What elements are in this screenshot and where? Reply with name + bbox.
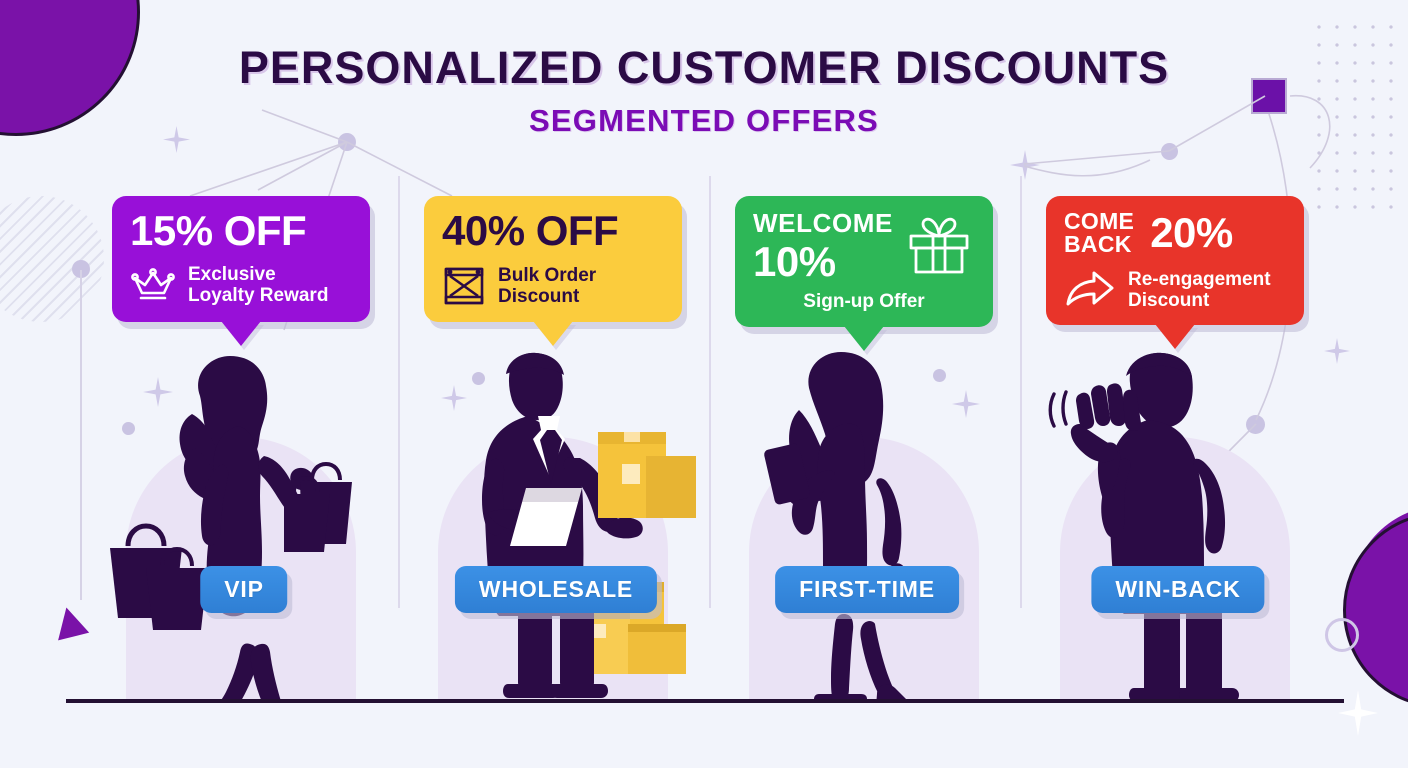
comeback-line1: COME xyxy=(1064,210,1134,233)
discount-value: 15% OFF xyxy=(130,210,306,252)
gift-icon xyxy=(903,214,975,276)
offer-card-vip[interactable]: 15% OFF Exclusive Loyalt xyxy=(112,196,370,322)
card-tail xyxy=(844,326,884,351)
segment-label-wholesale[interactable]: WHOLESALE xyxy=(455,566,657,613)
offer-card-wholesale[interactable]: 40% OFF xyxy=(424,196,682,322)
offer-description-line1: Bulk Order xyxy=(498,265,596,286)
discount-headline: 40% OFF xyxy=(442,210,664,252)
offer-description: Exclusive Loyalty Reward xyxy=(188,264,328,307)
offer-description-line2: Discount xyxy=(1128,290,1271,311)
offer-description-line1: Exclusive xyxy=(188,264,328,285)
offer-card-first-time[interactable]: WELCOME 10% xyxy=(735,196,993,327)
card-tail xyxy=(221,321,261,346)
offer-description: Re-engagement Discount xyxy=(1128,269,1271,312)
discount-value: 20% xyxy=(1150,212,1233,254)
segment-label-vip[interactable]: VIP xyxy=(200,566,287,613)
offer-description-line2: Discount xyxy=(498,286,596,307)
discount-headline: 15% OFF xyxy=(130,210,352,252)
discount-comeback-label: COME BACK xyxy=(1064,210,1134,257)
figure-wholesale xyxy=(400,352,712,702)
held-box xyxy=(598,432,696,518)
segment-column-win-back[interactable]: COME BACK 20% Re-engagement Discount xyxy=(1022,0,1334,768)
motion-lines xyxy=(1050,392,1066,426)
offer-description-line1: Re-engagement xyxy=(1128,269,1271,290)
curved-arrow-icon xyxy=(1064,270,1116,310)
card-tail xyxy=(533,321,573,346)
segment-column-wholesale[interactable]: 40% OFF xyxy=(400,0,712,768)
crown-icon xyxy=(130,266,176,304)
segment-column-first-time[interactable]: WELCOME 10% xyxy=(711,0,1023,768)
figure-vip xyxy=(88,352,400,702)
discount-welcome-label: WELCOME xyxy=(753,210,893,237)
offer-description: Bulk Order Discount xyxy=(498,265,596,308)
offer-description-line2: Loyalty Reward xyxy=(188,285,328,306)
offer-card-win-back[interactable]: COME BACK 20% Re-engagement Discount xyxy=(1046,196,1304,325)
offer-description-line1: Sign-up Offer xyxy=(803,291,924,312)
segment-label-win-back[interactable]: WIN-BACK xyxy=(1091,566,1264,613)
figure-first-time xyxy=(711,352,1023,702)
comeback-line2: BACK xyxy=(1064,233,1134,256)
discount-value: 10% xyxy=(753,241,893,283)
figure-win-back xyxy=(1022,352,1334,702)
crate-box-icon xyxy=(442,264,486,308)
card-tail xyxy=(1155,324,1195,349)
offer-description: Sign-up Offer xyxy=(803,291,924,312)
discount-value: 40% OFF xyxy=(442,210,618,252)
segment-label-first-time[interactable]: FIRST-TIME xyxy=(775,566,959,613)
infographic-canvas: PERSONALIZED CUSTOMER DISCOUNTS SEGMENTE… xyxy=(0,0,1408,768)
segment-column-vip[interactable]: 15% OFF Exclusive Loyalt xyxy=(88,0,400,768)
